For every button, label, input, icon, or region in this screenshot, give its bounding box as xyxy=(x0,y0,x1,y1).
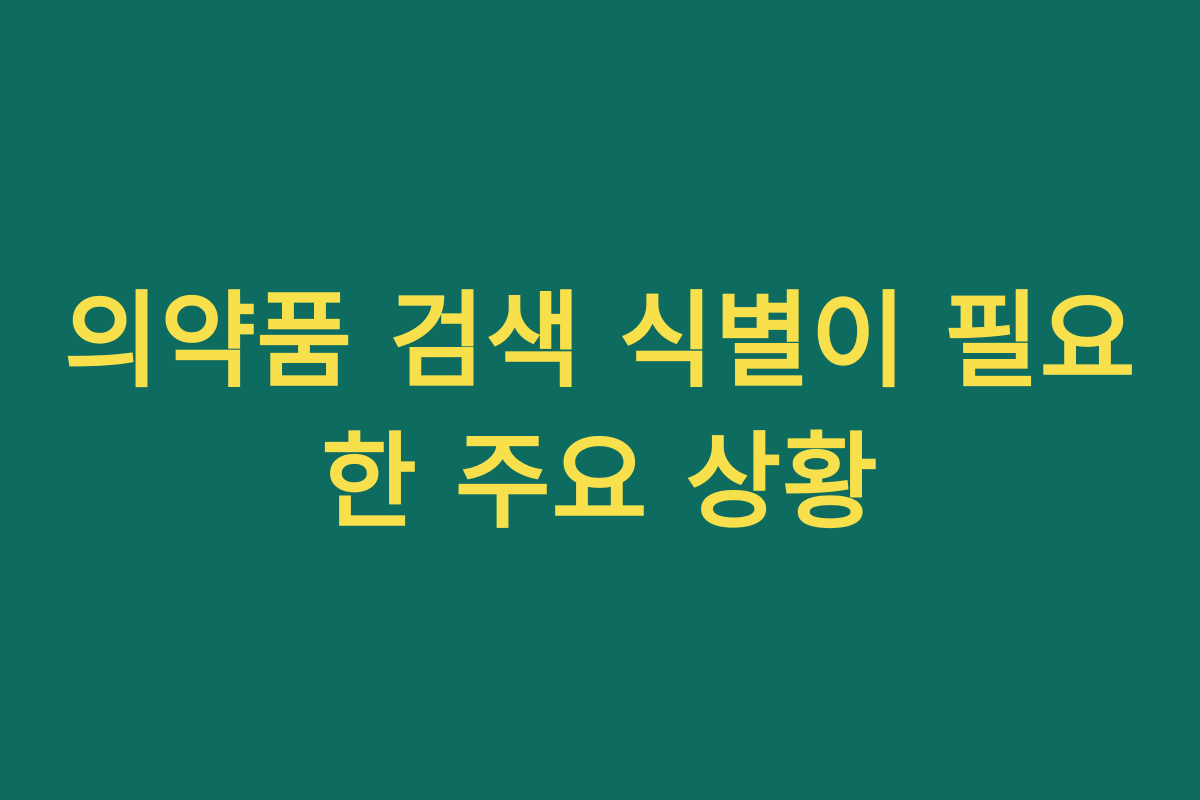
headline-line-2: 한 주요 상황 xyxy=(60,412,1140,553)
headline: 의약품 검색 식별이 필요 한 주요 상황 xyxy=(60,271,1140,554)
text-banner: 의약품 검색 식별이 필요 한 주요 상황 xyxy=(0,0,1200,800)
headline-line-1: 의약품 검색 식별이 필요 xyxy=(60,271,1140,412)
